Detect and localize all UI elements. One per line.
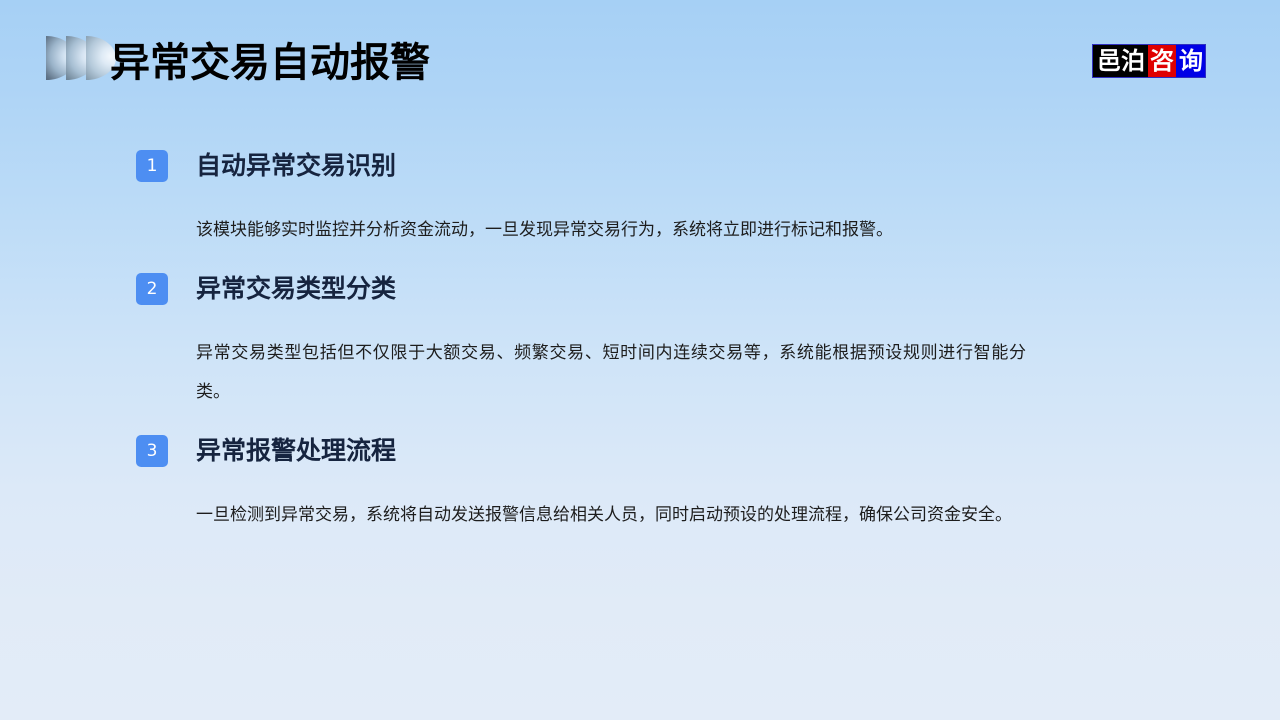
slide-header: 异常交易自动报警 邑泊 咨 询 bbox=[0, 0, 1280, 110]
list-item-body: 该模块能够实时监控并分析资金流动，一旦发现异常交易行为，系统将立即进行标记和报警… bbox=[0, 190, 1026, 249]
list-item: 1 自动异常交易识别 该模块能够实时监控并分析资金流动，一旦发现异常交易行为，系… bbox=[0, 150, 1280, 249]
list-item-title: 自动异常交易识别 bbox=[196, 147, 396, 185]
list-item-body: 异常交易类型包括但不仅限于大额交易、频繁交易、短时间内连续交易等，系统能根据预设… bbox=[0, 313, 1026, 411]
list-item: 2 异常交易类型分类 异常交易类型包括但不仅限于大额交易、频繁交易、短时间内连续… bbox=[0, 273, 1280, 411]
list-item-title: 异常报警处理流程 bbox=[196, 432, 396, 470]
slide-canvas: 异常交易自动报警 邑泊 咨 询 1 自动异常交易识别 该模块能够实时监控并分析资… bbox=[0, 0, 1280, 720]
list-item: 3 异常报警处理流程 一旦检测到异常交易，系统将自动发送报警信息给相关人员，同时… bbox=[0, 435, 1280, 534]
status-badge: 3 bbox=[136, 435, 168, 467]
list-item-title: 异常交易类型分类 bbox=[196, 270, 396, 308]
list-item-header: 1 自动异常交易识别 bbox=[0, 150, 1280, 190]
company-logo: 邑泊 咨 询 bbox=[1092, 44, 1206, 78]
slide-body: 1 自动异常交易识别 该模块能够实时监控并分析资金流动，一旦发现异常交易行为，系… bbox=[0, 150, 1280, 534]
logo-text-red: 咨 bbox=[1148, 45, 1176, 77]
status-badge: 1 bbox=[136, 150, 168, 182]
logo-text-black: 邑泊 bbox=[1093, 45, 1148, 77]
status-badge: 2 bbox=[136, 273, 168, 305]
spacer bbox=[0, 411, 1280, 435]
logo-text-blue: 询 bbox=[1176, 45, 1205, 77]
list-item-header: 3 异常报警处理流程 bbox=[0, 435, 1280, 475]
list-item-body: 一旦检测到异常交易，系统将自动发送报警信息给相关人员，同时启动预设的处理流程，确… bbox=[0, 475, 1026, 534]
decorative-half-circles-icon bbox=[46, 36, 116, 80]
page-title: 异常交易自动报警 bbox=[110, 38, 430, 88]
list-item-header: 2 异常交易类型分类 bbox=[0, 273, 1280, 313]
spacer bbox=[0, 249, 1280, 273]
